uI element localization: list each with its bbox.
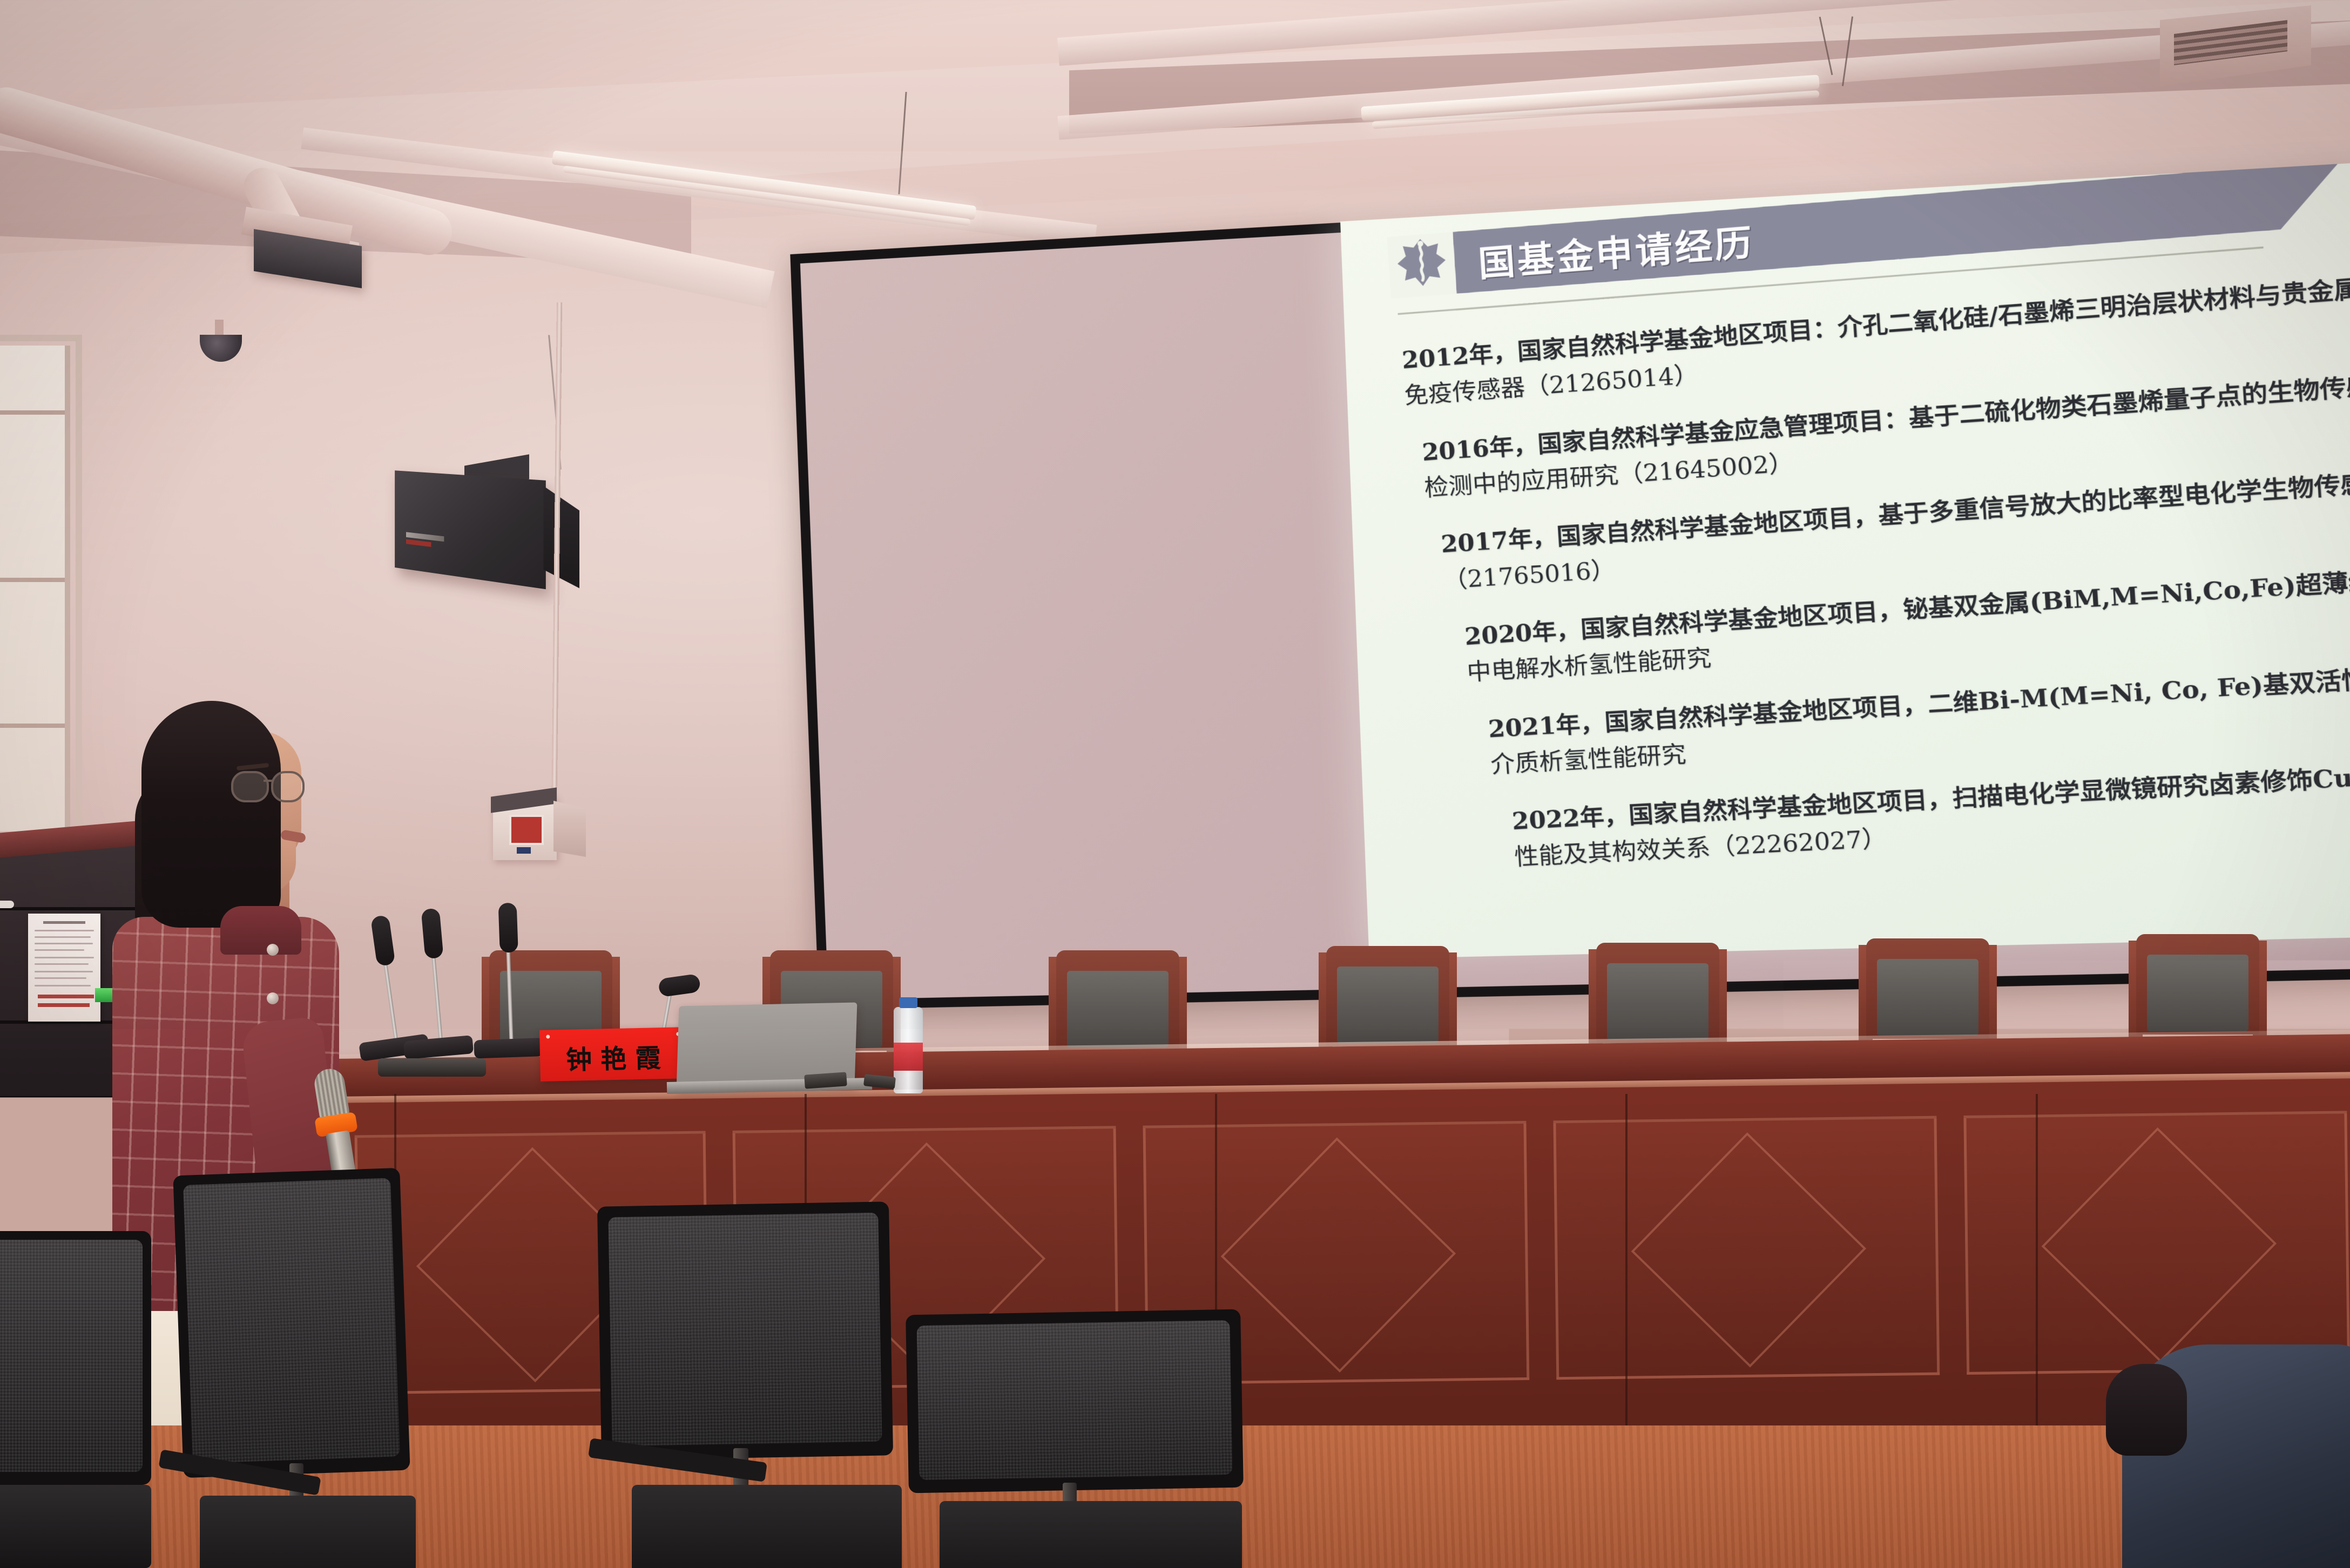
foreground-office-chair[interactable] — [1744, 1226, 2047, 1568]
hair — [141, 701, 281, 928]
eyeglasses — [231, 771, 312, 799]
name-card: 钟艳霞 — [539, 1027, 687, 1082]
foreground-office-chair[interactable] — [0, 1231, 151, 1568]
water-bottle — [894, 1007, 923, 1093]
fire-alarm-pull-station[interactable] — [493, 796, 557, 860]
rod-of-asclepius-icon — [1387, 232, 1457, 299]
foreground-office-chair[interactable] — [178, 1172, 405, 1568]
foreground-office-chair[interactable] — [907, 1312, 1242, 1568]
shirt-collar — [220, 906, 301, 955]
slide-title: 国基金申请经历 — [1476, 213, 1755, 287]
projection-screen: 国基金申请经历 2012年，国家自然科学基金地区项目：介孔二氧化硅/石墨烯三明治… — [790, 158, 2350, 1010]
name-card-text: 钟艳霞 — [557, 1032, 670, 1076]
slide-body: 2012年，国家自然科学基金地区项目：介孔二氧化硅/石墨烯三明治层状材料与贵金属… — [1389, 255, 2350, 902]
lecture-room-photo: 国基金申请经历 2012年，国家自然科学基金地区项目：介孔二氧化硅/石墨烯三明治… — [0, 0, 2350, 1568]
foreground-office-chair[interactable] — [599, 1204, 891, 1568]
desk-accessory — [804, 1072, 847, 1089]
window-frame — [0, 335, 82, 855]
seated-attendee — [2122, 1344, 2350, 1568]
screen-frame: 国基金申请经历 2012年，国家自然科学基金地区项目：介孔二氧化硅/石墨烯三明治… — [790, 158, 2350, 1010]
attendee-head — [2106, 1364, 2187, 1456]
cable-bundle — [378, 1058, 486, 1077]
posted-notice — [28, 914, 100, 1022]
projected-slide: 国基金申请经历 2012年，国家自然科学基金地区项目：介孔二氧化硅/石墨烯三明治… — [1340, 156, 2350, 959]
